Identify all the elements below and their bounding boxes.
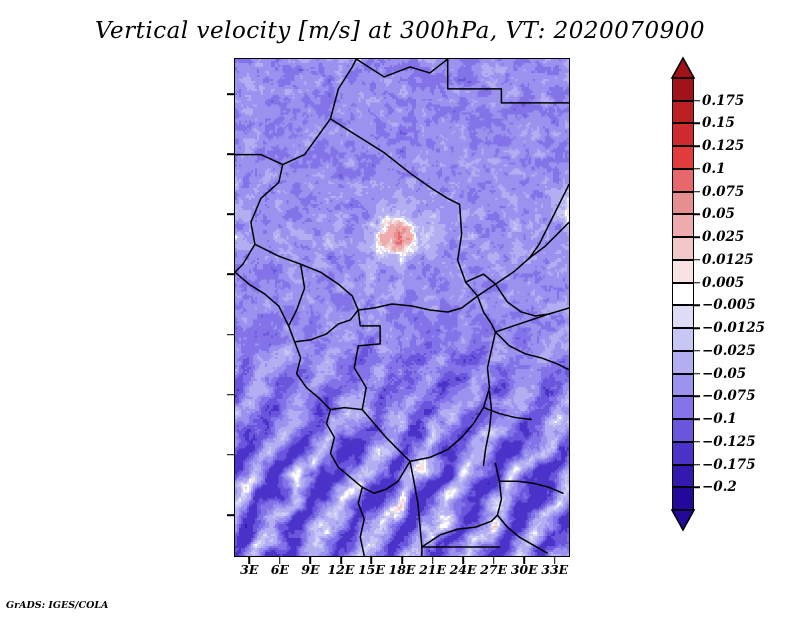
x-axis-tick-label: 21E: [419, 562, 446, 577]
colorbar-swatch: [672, 305, 694, 328]
x-axis-tick-label: 9E: [301, 562, 319, 577]
colorbar-swatch: [672, 442, 694, 465]
y-axis-tick-mark: [227, 514, 234, 516]
x-axis-tick-mark: [462, 557, 464, 564]
colorbar-swatch: [672, 78, 694, 101]
y-axis-tick-mark: [227, 153, 234, 155]
colorbar-tick-label: −0.125: [702, 434, 756, 450]
x-axis-tick-label: 30E: [511, 562, 538, 577]
colorbar-swatch: [672, 146, 694, 169]
x-axis-tick-mark: [279, 557, 281, 564]
colorbar-tick-label: −0.1: [702, 411, 737, 427]
colorbar-tick-label: −0.025: [702, 343, 756, 359]
colorbar-tick-label: 0.175: [702, 93, 744, 109]
colorbar-tick-mark: [694, 327, 700, 329]
x-axis-tick-mark: [371, 557, 373, 564]
x-axis-tick-label: 27E: [480, 562, 507, 577]
colorbar-swatch: [672, 192, 694, 215]
colorbar-tick-label: 0.1: [702, 161, 726, 177]
x-axis-tick-mark: [310, 557, 312, 564]
colorbar-swatch: [672, 465, 694, 488]
x-axis-tick-label: 6E: [271, 562, 289, 577]
colorbar-tick-label: 0.075: [702, 184, 744, 200]
colorbar-cap-bottom: [672, 510, 694, 530]
credit-text: GrADS: IGES/COLA: [6, 600, 108, 611]
colorbar: [672, 78, 694, 510]
colorbar-swatch: [672, 419, 694, 442]
x-axis-tick-label: 3E: [240, 562, 258, 577]
x-axis-tick-label: 18E: [389, 562, 416, 577]
colorbar-tick-label: 0.15: [702, 115, 735, 131]
colorbar-tick-mark: [694, 396, 700, 398]
colorbar-tick-mark: [694, 214, 700, 216]
colorbar-tick-mark: [694, 487, 700, 489]
x-axis-tick-label: 12E: [327, 562, 354, 577]
colorbar-tick-label: 0.0125: [702, 252, 754, 268]
x-axis-tick-mark: [554, 557, 556, 564]
colorbar-tick-label: 0.125: [702, 138, 744, 154]
x-axis-tick-label: 24E: [450, 562, 477, 577]
colorbar-swatch: [672, 260, 694, 283]
colorbar-cap-top: [672, 58, 694, 78]
colorbar-tick-mark: [694, 145, 700, 147]
colorbar-tick-label: 0.005: [702, 275, 744, 291]
colorbar-tick-mark: [694, 259, 700, 261]
colorbar-tick-label: −0.0125: [702, 320, 765, 336]
colorbar-tick-label: −0.175: [702, 457, 756, 473]
colorbar-tick-label: 0.05: [702, 206, 735, 222]
x-axis-tick-mark: [248, 557, 250, 564]
colorbar-tick-mark: [694, 123, 700, 125]
colorbar-tick-mark: [694, 100, 700, 102]
chart-root: Vertical velocity [m/s] at 300hPa, VT: 2…: [0, 0, 800, 618]
colorbar-swatch: [672, 487, 694, 510]
colorbar-swatch: [672, 123, 694, 146]
y-axis-tick-mark: [227, 93, 234, 95]
x-axis-tick-mark: [523, 557, 525, 564]
colorbar-swatch: [672, 351, 694, 374]
y-axis-tick-mark: [227, 274, 234, 276]
colorbar-swatch: [672, 328, 694, 351]
colorbar-swatch: [672, 214, 694, 237]
colorbar-tick-mark: [694, 236, 700, 238]
y-axis-tick-mark: [227, 214, 234, 216]
colorbar-tick-mark: [694, 191, 700, 193]
y-axis-tick-mark: [227, 394, 234, 396]
map-panel: [234, 58, 570, 557]
colorbar-swatch: [672, 237, 694, 260]
x-axis-tick-mark: [401, 557, 403, 564]
colorbar-swatch: [672, 169, 694, 192]
colorbar-tick-label: −0.05: [702, 366, 746, 382]
colorbar-tick-label: −0.2: [702, 479, 737, 495]
colorbar-tick-mark: [694, 282, 700, 284]
colorbar-swatch: [672, 101, 694, 124]
x-axis-tick-label: 33E: [541, 562, 568, 577]
colorbar-tick-mark: [694, 305, 700, 307]
colorbar-tick-label: 0.025: [702, 229, 744, 245]
y-axis-tick-mark: [227, 334, 234, 336]
colorbar-tick-mark: [694, 441, 700, 443]
page-title: Vertical velocity [m/s] at 300hPa, VT: 2…: [0, 18, 800, 44]
colorbar-tick-mark: [694, 168, 700, 170]
colorbar-tick-mark: [694, 418, 700, 420]
x-axis-tick-mark: [493, 557, 495, 564]
colorbar-swatch: [672, 374, 694, 397]
x-axis-tick-label: 15E: [358, 562, 385, 577]
x-axis-tick-mark: [432, 557, 434, 564]
colorbar-swatch: [672, 396, 694, 419]
colorbar-swatch: [672, 283, 694, 306]
colorbar-tick-mark: [694, 464, 700, 466]
y-axis-tick-mark: [227, 454, 234, 456]
country-borders-overlay: [235, 59, 569, 556]
colorbar-tick-mark: [694, 350, 700, 352]
x-axis-tick-mark: [340, 557, 342, 564]
colorbar-tick-mark: [694, 373, 700, 375]
colorbar-tick-label: −0.005: [702, 297, 756, 313]
colorbar-tick-label: −0.075: [702, 388, 756, 404]
